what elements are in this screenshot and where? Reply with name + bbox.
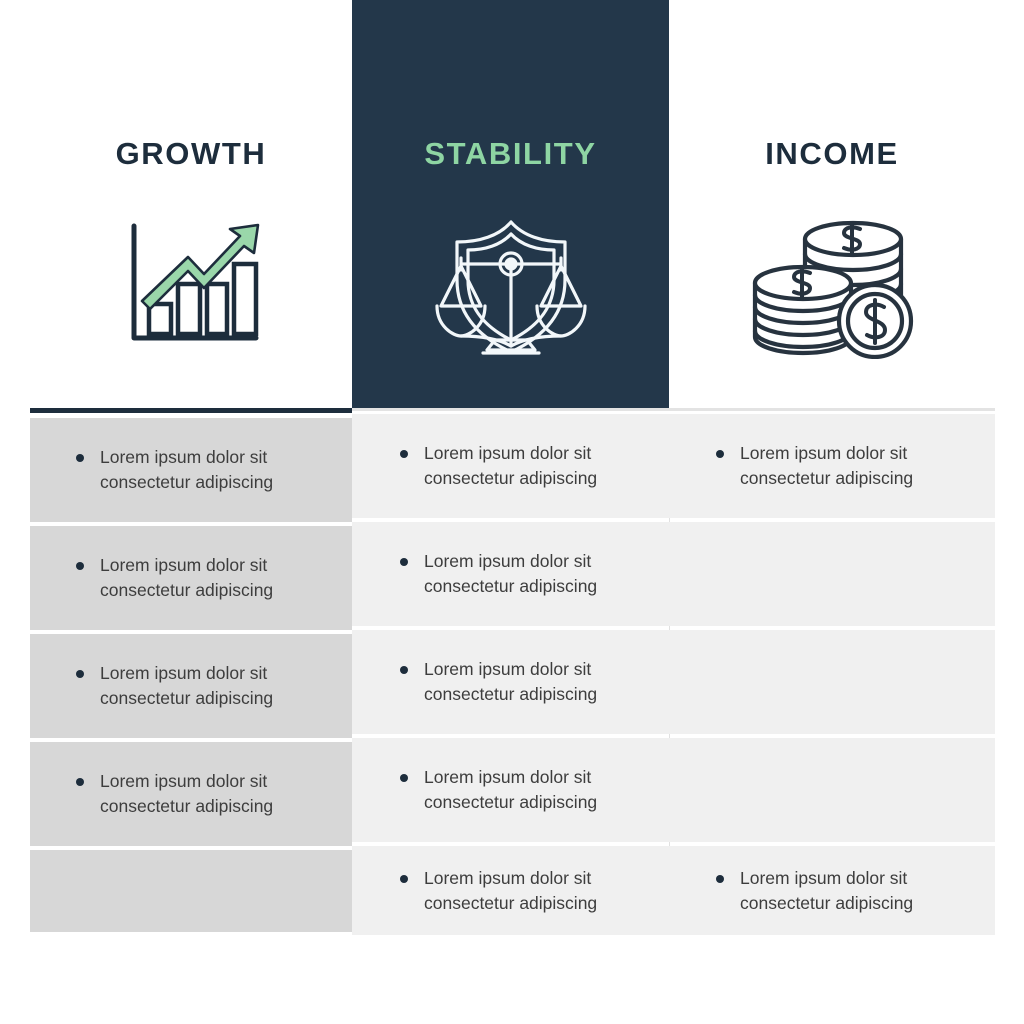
comparison-table: Lorem ipsum dolor sitconsectetur adipisc…: [30, 408, 995, 932]
bullet-dot-icon: [76, 670, 84, 678]
table-cell-income-2[interactable]: [669, 522, 995, 626]
bullet-dot-icon: [76, 778, 84, 786]
bullet-text: Lorem ipsum dolor sitconsectetur adipisc…: [740, 441, 913, 491]
bullet-text: Lorem ipsum dolor sitconsectetur adipisc…: [100, 769, 273, 819]
bullet-dot-icon: [76, 454, 84, 462]
column-title-growth: GROWTH: [116, 138, 267, 169]
bullet-dot-icon: [400, 558, 408, 566]
column-headers: GROWTH STABILITY: [0, 0, 1024, 410]
bullet-item: Lorem ipsum dolor sitconsectetur adipisc…: [352, 441, 597, 491]
bullet-text: Lorem ipsum dolor sitconsectetur adipisc…: [424, 657, 597, 707]
table-column-stability: Lorem ipsum dolor sitconsectetur adipisc…: [352, 408, 669, 932]
bar-chart-growth-arrow-icon: [101, 211, 281, 361]
table-cell-income-1[interactable]: Lorem ipsum dolor sitconsectetur adipisc…: [669, 414, 995, 518]
table-column-income: Lorem ipsum dolor sitconsectetur adipisc…: [669, 408, 995, 932]
table-cell-stability-1[interactable]: Lorem ipsum dolor sitconsectetur adipisc…: [352, 414, 669, 518]
table-cell-income-3[interactable]: [669, 630, 995, 734]
table-cell-stability-5[interactable]: Lorem ipsum dolor sitconsectetur adipisc…: [352, 846, 669, 935]
bullet-text: Lorem ipsum dolor sitconsectetur adipisc…: [424, 866, 597, 916]
table-cell-growth-2[interactable]: Lorem ipsum dolor sitconsectetur adipisc…: [30, 526, 352, 630]
bullet-item: Lorem ipsum dolor sitconsectetur adipisc…: [30, 769, 273, 819]
coin-stacks-dollar-icon: [742, 211, 922, 361]
bullet-dot-icon: [400, 450, 408, 458]
bullet-item: Lorem ipsum dolor sitconsectetur adipisc…: [352, 549, 597, 599]
table-cell-growth-3[interactable]: Lorem ipsum dolor sitconsectetur adipisc…: [30, 634, 352, 738]
bullet-text: Lorem ipsum dolor sitconsectetur adipisc…: [424, 441, 597, 491]
table-cell-stability-4[interactable]: Lorem ipsum dolor sitconsectetur adipisc…: [352, 738, 669, 842]
bullet-dot-icon: [76, 562, 84, 570]
bullet-text: Lorem ipsum dolor sitconsectetur adipisc…: [740, 866, 913, 916]
bullet-text: Lorem ipsum dolor sitconsectetur adipisc…: [100, 661, 273, 711]
bullet-text: Lorem ipsum dolor sitconsectetur adipisc…: [424, 549, 597, 599]
bullet-dot-icon: [400, 774, 408, 782]
bullet-item: Lorem ipsum dolor sitconsectetur adipisc…: [669, 441, 913, 491]
table-column-growth: Lorem ipsum dolor sitconsectetur adipisc…: [30, 408, 352, 932]
table-cell-stability-3[interactable]: Lorem ipsum dolor sitconsectetur adipisc…: [352, 630, 669, 734]
bullet-item: Lorem ipsum dolor sitconsectetur adipisc…: [30, 553, 273, 603]
bullet-text: Lorem ipsum dolor sitconsectetur adipisc…: [424, 765, 597, 815]
bullet-item: Lorem ipsum dolor sitconsectetur adipisc…: [30, 445, 273, 495]
table-cell-growth-4[interactable]: Lorem ipsum dolor sitconsectetur adipisc…: [30, 742, 352, 846]
column-title-income: INCOME: [765, 138, 899, 169]
column-header-growth[interactable]: GROWTH: [30, 0, 352, 410]
bullet-dot-icon: [716, 875, 724, 883]
table-cell-stability-2[interactable]: Lorem ipsum dolor sitconsectetur adipisc…: [352, 522, 669, 626]
bullet-dot-icon: [716, 450, 724, 458]
bullet-item: Lorem ipsum dolor sitconsectetur adipisc…: [30, 661, 273, 711]
bullet-text: Lorem ipsum dolor sitconsectetur adipisc…: [100, 553, 273, 603]
infographic-root: GROWTH STABILITY: [0, 0, 1024, 1024]
bullet-item: Lorem ipsum dolor sitconsectetur adipisc…: [352, 657, 597, 707]
table-cell-income-4[interactable]: [669, 738, 995, 842]
shield-balance-scales-icon: [421, 211, 601, 361]
bullet-item: Lorem ipsum dolor sitconsectetur adipisc…: [669, 866, 913, 916]
table-cell-growth-5[interactable]: [30, 850, 352, 932]
column-title-stability: STABILITY: [424, 138, 596, 169]
column-header-income[interactable]: INCOME: [669, 0, 995, 410]
bullet-dot-icon: [400, 875, 408, 883]
bullet-dot-icon: [400, 666, 408, 674]
column-header-stability[interactable]: STABILITY: [352, 0, 669, 410]
table-cell-income-5[interactable]: Lorem ipsum dolor sitconsectetur adipisc…: [669, 846, 995, 935]
bullet-item: Lorem ipsum dolor sitconsectetur adipisc…: [352, 765, 597, 815]
table-cell-growth-1[interactable]: Lorem ipsum dolor sitconsectetur adipisc…: [30, 418, 352, 522]
bullet-text: Lorem ipsum dolor sitconsectetur adipisc…: [100, 445, 273, 495]
bullet-item: Lorem ipsum dolor sitconsectetur adipisc…: [352, 866, 597, 916]
